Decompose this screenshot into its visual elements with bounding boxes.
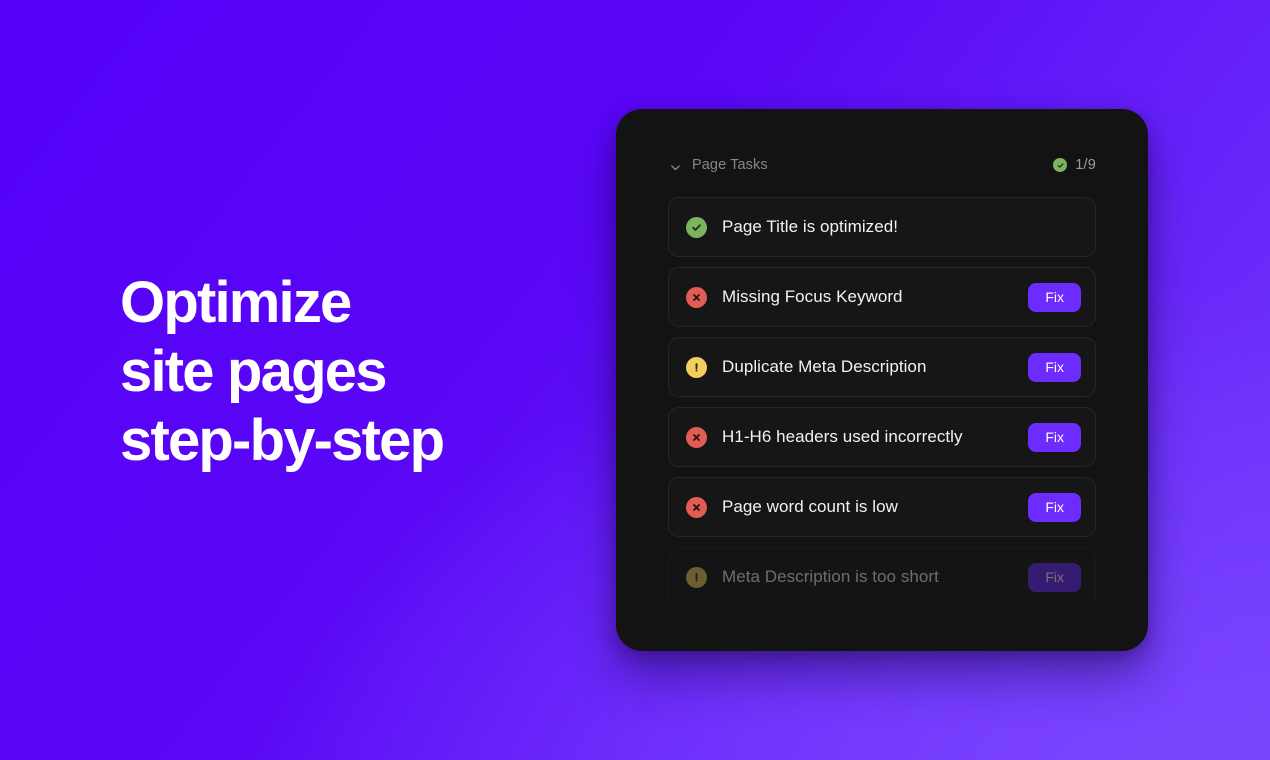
task-label: H1-H6 headers used incorrectly: [722, 427, 1028, 447]
task-label: Page word count is low: [722, 497, 1028, 517]
card-title: Page Tasks: [692, 157, 768, 173]
table-row[interactable]: Duplicate Meta Description Fix: [668, 337, 1096, 397]
progress-count: 1/9: [1075, 157, 1096, 173]
fix-button[interactable]: Fix: [1028, 283, 1081, 312]
check-circle-icon: [1053, 158, 1067, 172]
task-label: Missing Focus Keyword: [722, 287, 1028, 307]
x-circle-icon: [686, 287, 707, 308]
check-circle-icon: [686, 217, 707, 238]
card-progress: 1/9: [1053, 157, 1096, 173]
fix-button[interactable]: Fix: [1028, 423, 1081, 452]
card-content: Page Tasks 1/9 Page Title is optimized!: [616, 109, 1148, 651]
alert-circle-icon: [686, 357, 707, 378]
table-row[interactable]: Missing Focus Keyword Fix: [668, 267, 1096, 327]
fix-button[interactable]: Fix: [1028, 353, 1081, 382]
task-label: Meta Description is too short: [722, 567, 1028, 587]
card-header: Page Tasks 1/9: [638, 155, 1126, 175]
fix-button[interactable]: Fix: [1028, 563, 1081, 592]
task-label: Page Title is optimized!: [722, 217, 1081, 237]
task-list: Page Title is optimized! Missing Focus K…: [638, 197, 1126, 607]
alert-circle-icon: [686, 567, 707, 588]
x-circle-icon: [686, 427, 707, 448]
fix-button[interactable]: Fix: [1028, 493, 1081, 522]
chevron-down-icon[interactable]: [670, 160, 681, 171]
page-headline: Optimize site pages step-by-step: [120, 268, 580, 475]
table-row[interactable]: Meta Description is too short Fix: [668, 547, 1096, 607]
x-circle-icon: [686, 497, 707, 518]
card-header-left[interactable]: Page Tasks: [670, 157, 768, 173]
table-row[interactable]: H1-H6 headers used incorrectly Fix: [668, 407, 1096, 467]
table-row[interactable]: Page word count is low Fix: [668, 477, 1096, 537]
page-tasks-card: Page Tasks 1/9 Page Title is optimized!: [616, 109, 1148, 651]
task-label: Duplicate Meta Description: [722, 357, 1028, 377]
table-row[interactable]: Page Title is optimized!: [668, 197, 1096, 257]
